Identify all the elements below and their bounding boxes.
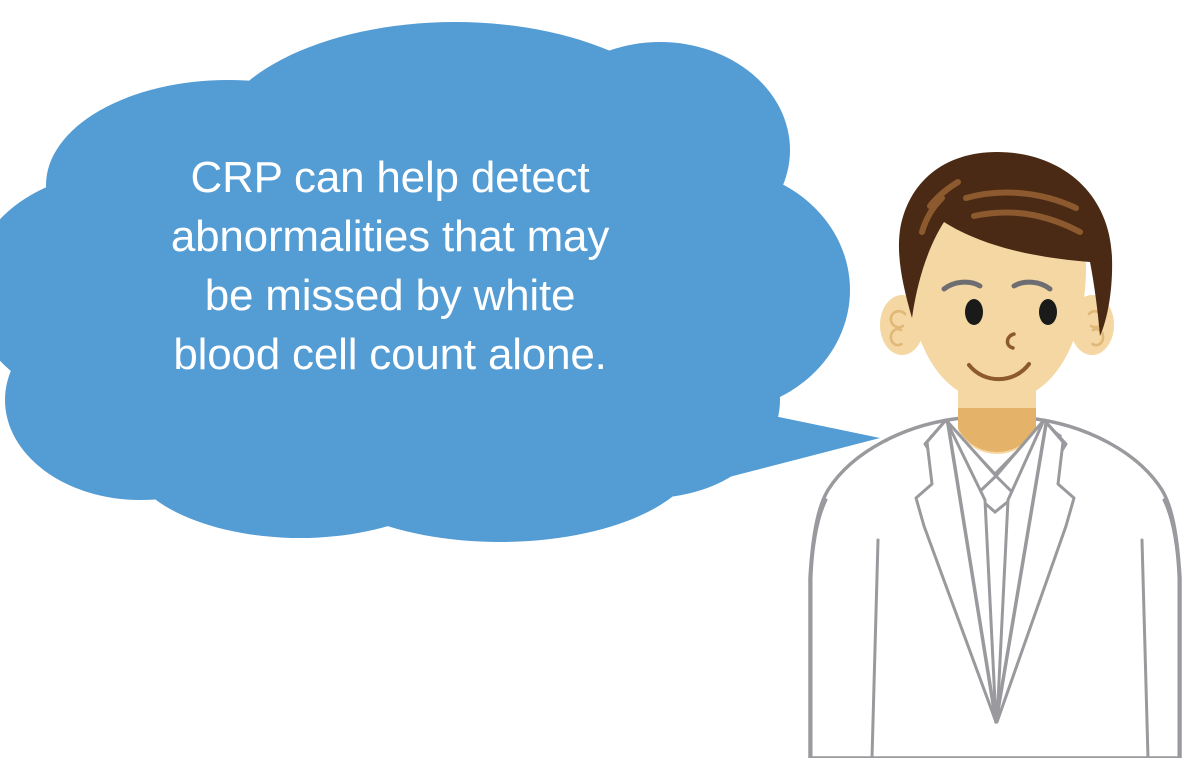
eye-left (965, 299, 983, 325)
illustration-canvas: CRP can help detect abnormalities that m… (0, 0, 1200, 758)
head (880, 152, 1114, 402)
lab-coat (810, 390, 1180, 758)
doctor-figure (0, 0, 1200, 758)
eye-right (1039, 299, 1057, 325)
